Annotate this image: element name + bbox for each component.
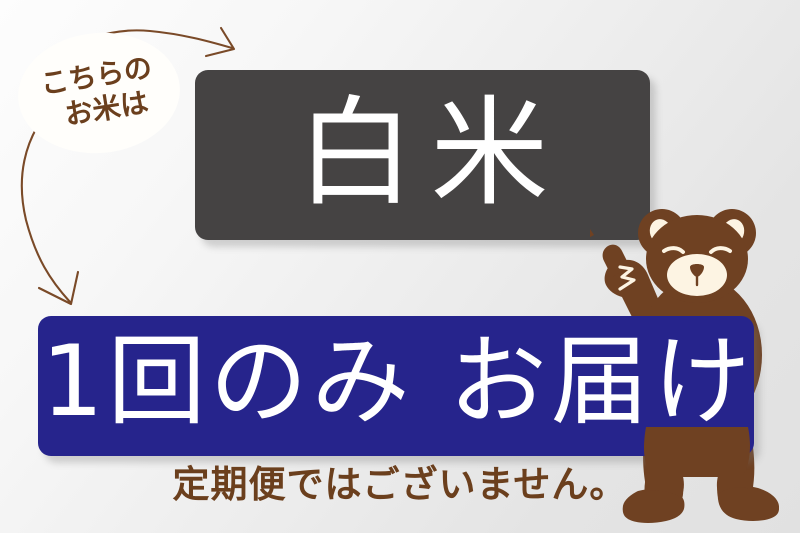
banner-white-rice: 白米 bbox=[195, 70, 650, 240]
speech-bubble-text: こちらの お米は bbox=[10, 21, 189, 165]
speech-bubble: こちらの お米は bbox=[13, 26, 185, 160]
promo-banner-canvas: こちらの お米は bbox=[0, 0, 800, 533]
bear-far-arm bbox=[590, 211, 594, 252]
banner-blue-text: 1回のみ お届け bbox=[37, 333, 755, 431]
banner-one-time-delivery: 1回のみ お届け bbox=[38, 316, 754, 456]
banner-dark-text: 白米 bbox=[280, 94, 564, 212]
caption-not-subscription: 定期便ではございません。 bbox=[0, 466, 800, 503]
